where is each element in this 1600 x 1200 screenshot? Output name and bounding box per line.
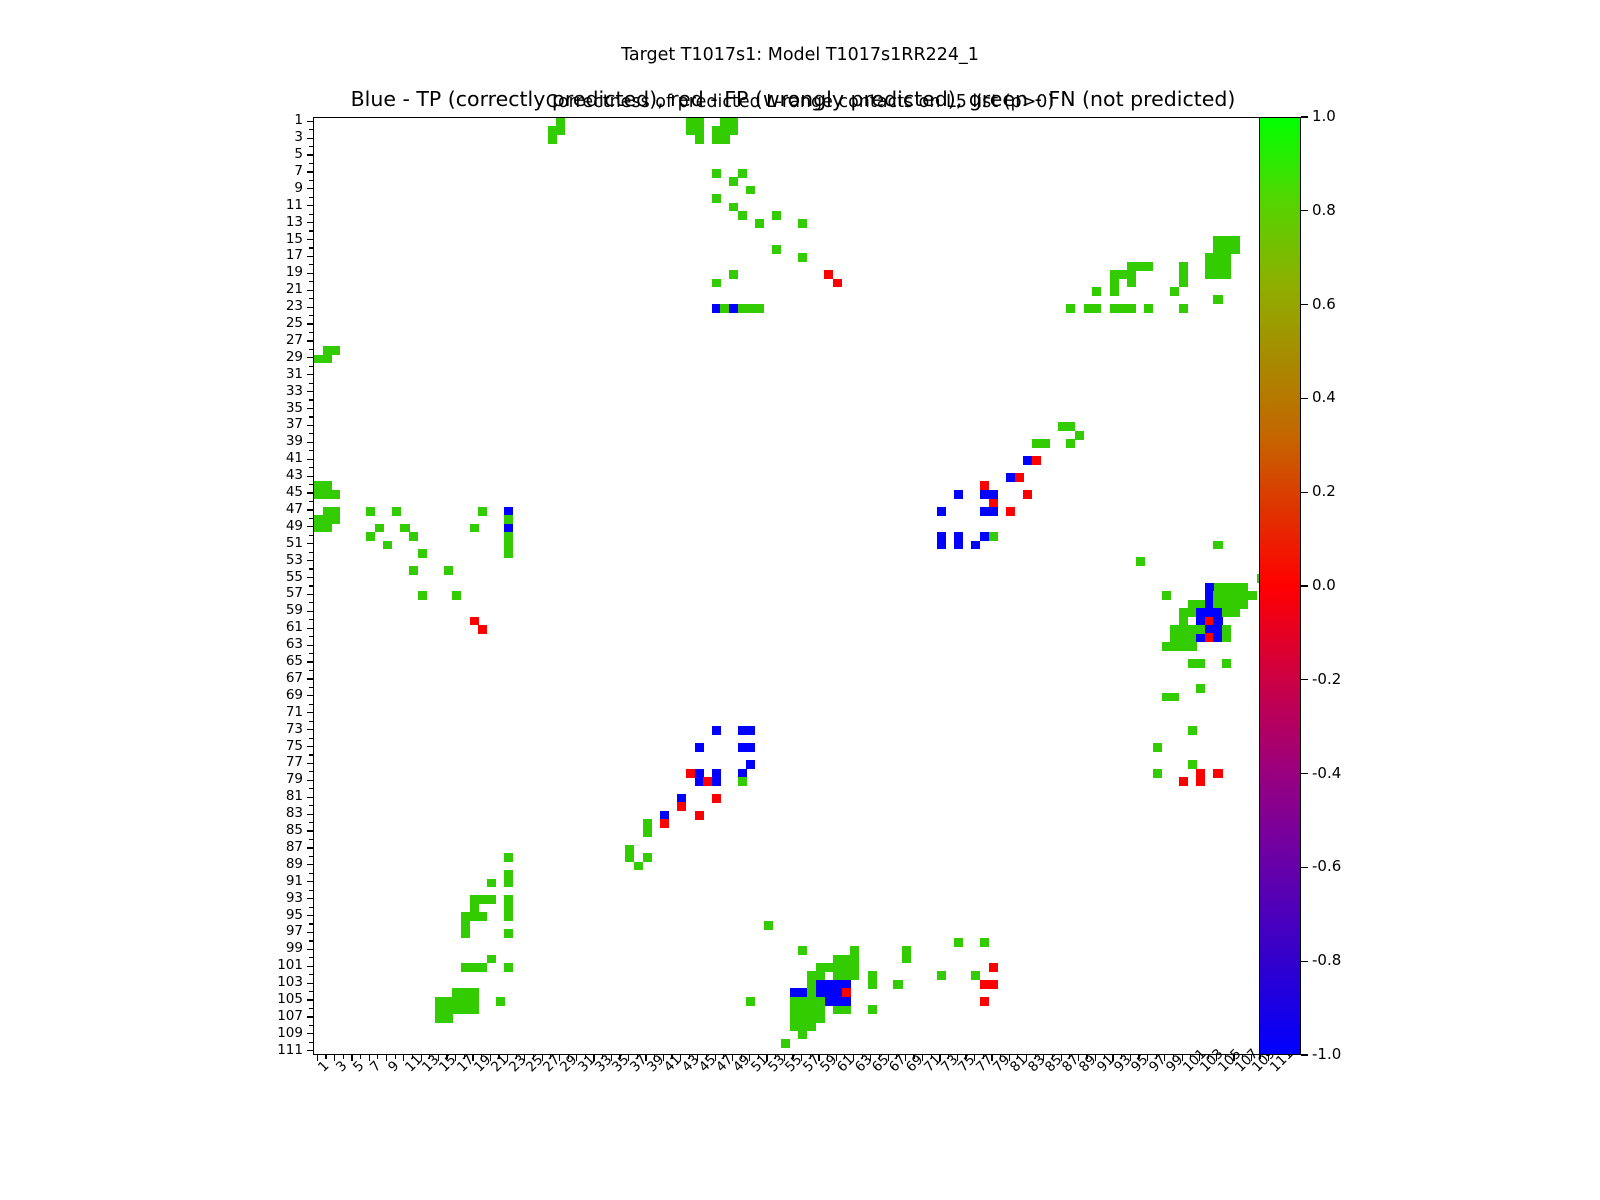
contact-cell-mirror [504,515,513,524]
contact-cell-mirror [807,1022,816,1031]
y-tick-label-79: 79 [243,771,303,787]
y-tick-label-81: 81 [243,788,303,804]
contact-cell-mirror [392,507,401,516]
y-tick-mark [309,991,313,992]
contact-cell [1196,684,1205,693]
y-tick-label-75: 75 [243,738,303,754]
colorbar-tick-label--0.6: -0.6 [1312,857,1341,875]
y-tick-mark [307,746,313,747]
y-tick-mark [309,247,313,248]
y-tick-mark [307,425,313,426]
y-tick-mark [307,712,313,713]
y-tick-label-43: 43 [243,467,303,483]
y-tick-mark [307,239,313,240]
y-tick-label-39: 39 [243,433,303,449]
y-tick-mark [307,307,313,308]
y-tick-mark [307,1016,313,1017]
y-tick-label-73: 73 [243,721,303,737]
y-tick-mark [309,180,313,181]
y-tick-mark [307,1050,313,1051]
y-tick-mark [307,966,313,967]
contact-cell [1136,557,1145,566]
contact-cell-mirror [798,946,807,955]
contact-cell-mirror [764,921,773,930]
y-tick-label-1: 1 [243,112,303,128]
y-tick-mark [307,357,313,358]
contact-cell [1170,693,1179,702]
contact-cell-mirror [677,802,686,811]
contact-cell [478,912,487,921]
contact-cell-mirror [755,304,764,313]
contact-cell [746,743,755,752]
contact-cell [634,862,643,871]
contact-cell-mirror [556,126,565,135]
y-tick-mark [309,873,313,874]
contact-cell-mirror [816,1005,825,1014]
y-tick-mark [307,560,313,561]
y-tick-label-41: 41 [243,450,303,466]
contact-cell-mirror [478,507,487,516]
contact-cell-mirror [1196,659,1205,668]
contact-cell-mirror [989,980,998,989]
x-tick-mark [360,1055,361,1059]
y-tick-mark [307,154,313,155]
contact-cell [1153,743,1162,752]
contact-cell [504,912,513,921]
contact-cell-mirror [478,625,487,634]
colorbar-tick-label--0.2: -0.2 [1312,670,1341,688]
y-tick-mark [309,670,313,671]
y-tick-mark [307,340,313,341]
x-tick-mark [395,1055,396,1059]
contact-cell-mirror [798,1031,807,1040]
contact-cell [772,245,781,254]
contact-cell-mirror [409,532,418,541]
contact-cell [323,355,332,364]
y-tick-mark [307,628,313,629]
contact-cell-mirror [1231,608,1240,617]
y-tick-mark [309,298,313,299]
y-tick-label-31: 31 [243,366,303,382]
contact-cell-mirror [746,760,755,769]
y-tick-mark [307,780,313,781]
y-tick-mark [307,915,313,916]
contact-cell-mirror [989,490,998,499]
y-tick-mark [307,273,313,274]
colorbar-tick-mark [1301,1054,1308,1055]
y-tick-mark [307,729,313,730]
x-tick-label-3: 3 [333,1058,350,1075]
y-tick-label-67: 67 [243,670,303,686]
colorbar-tick-label-1.0: 1.0 [1312,107,1336,125]
y-tick-mark [309,890,313,891]
y-tick-label-63: 63 [243,636,303,652]
contact-cell [772,211,781,220]
contact-cell-mirror [842,997,851,1006]
y-tick-mark [307,678,313,679]
y-tick-label-103: 103 [243,974,303,990]
y-tick-label-77: 77 [243,754,303,770]
contact-cell-mirror [1110,304,1119,313]
contact-map-cells [314,118,1272,1054]
y-tick-mark [309,450,313,451]
y-tick-label-69: 69 [243,687,303,703]
contact-cell-mirror [1222,270,1231,279]
y-tick-mark [307,864,313,865]
contact-cell [375,524,384,533]
y-tick-mark [309,399,313,400]
contact-cell [842,1005,851,1014]
contact-cell [738,169,747,178]
y-tick-mark [309,552,313,553]
y-tick-label-47: 47 [243,501,303,517]
contact-cell-mirror [487,955,496,964]
x-tick-label-7: 7 [367,1058,384,1075]
contact-cell [504,929,513,938]
y-tick-mark [309,230,313,231]
contact-cell-mirror [461,988,470,997]
y-tick-mark [309,433,313,434]
colorbar-tick-mark [1301,492,1308,493]
y-tick-mark [307,983,313,984]
contact-cell [695,135,704,144]
y-tick-mark [309,619,313,620]
contact-cell [712,279,721,288]
contact-cell-mirror [798,253,807,262]
x-tick-label-1: 1 [315,1058,332,1075]
contact-cell-mirror [798,219,807,228]
y-tick-mark [309,332,313,333]
y-tick-label-11: 11 [243,197,303,213]
contact-cell [937,507,946,516]
contact-cell-mirror [755,219,764,228]
colorbar-tick-label--1.0: -1.0 [1312,1045,1341,1063]
axes-title-legend: Blue - TP (correctly predicted), red - F… [313,87,1273,111]
suptitle-line-1: Target T1017s1: Model T1017s1RR224_1 [621,45,979,65]
y-tick-mark [309,805,313,806]
y-tick-label-51: 51 [243,535,303,551]
contact-cell-mirror [1222,633,1231,642]
y-tick-label-65: 65 [243,653,303,669]
contact-cell [1170,287,1179,296]
contact-cell-mirror [1144,262,1153,271]
contact-cell-mirror [366,532,375,541]
contact-cell [452,591,461,600]
contact-cell-mirror [980,532,989,541]
y-tick-mark [309,366,313,367]
contact-cell [461,929,470,938]
contact-cell-mirror [1023,490,1032,499]
contact-cell-mirror [1110,287,1119,296]
contact-cell [1006,507,1015,516]
y-tick-label-55: 55 [243,569,303,585]
contact-cell-mirror [695,126,704,135]
y-tick-label-7: 7 [243,163,303,179]
y-tick-label-23: 23 [243,298,303,314]
y-tick-mark [307,881,313,882]
contact-cell-mirror [1032,456,1041,465]
contact-cell [1040,439,1049,448]
y-tick-label-99: 99 [243,940,303,956]
contact-cell-mirror [790,1005,799,1014]
contact-cell-mirror [1188,726,1197,735]
contact-cell-mirror [902,955,911,964]
contact-cell-mirror [409,566,418,575]
y-tick-label-37: 37 [243,416,303,432]
y-tick-mark [307,594,313,595]
y-tick-mark [309,568,313,569]
contact-cell [1179,777,1188,786]
y-tick-mark [307,526,313,527]
x-tick-mark [386,1055,387,1061]
contact-cell [695,743,704,752]
y-tick-label-9: 9 [243,180,303,196]
y-tick-label-15: 15 [243,231,303,247]
contact-cell [937,971,946,980]
contact-cell [496,997,505,1006]
contact-cell-mirror [1213,295,1222,304]
contact-cell [868,980,877,989]
y-tick-mark [307,442,313,443]
contact-cell-mirror [504,963,513,972]
y-tick-label-95: 95 [243,907,303,923]
contact-cell [1162,591,1171,600]
y-tick-mark [307,391,313,392]
contact-cell-mirror [470,904,479,913]
contact-cell-mirror [487,879,496,888]
contact-cell [323,524,332,533]
contact-cell-mirror [850,971,859,980]
contact-cell-mirror [1092,304,1101,313]
y-tick-label-101: 101 [243,957,303,973]
y-tick-label-83: 83 [243,805,303,821]
x-tick-label-9: 9 [385,1058,402,1075]
contact-cell-mirror [738,777,747,786]
colorbar-tick-mark [1301,398,1308,399]
contact-cell-mirror [1075,431,1084,440]
contact-cell-mirror [478,895,487,904]
y-tick-mark [307,763,313,764]
contact-cell [1248,591,1257,600]
y-tick-label-19: 19 [243,264,303,280]
y-tick-mark [309,704,313,705]
contact-cell-mirror [746,726,755,735]
y-tick-mark [309,653,313,654]
contact-cell [868,1005,877,1014]
contact-cell-mirror [729,177,738,186]
y-tick-mark [307,695,313,696]
y-tick-label-59: 59 [243,602,303,618]
colorbar-tick-mark [1301,961,1308,962]
y-tick-mark [309,907,313,908]
y-tick-label-105: 105 [243,991,303,1007]
y-tick-mark [309,602,313,603]
contact-cell-mirror [504,904,513,913]
contact-cell-mirror [712,726,721,735]
colorbar [1259,117,1301,1055]
contact-cell-mirror [1222,659,1231,668]
y-tick-mark [307,661,313,662]
y-tick-mark [307,847,313,848]
y-tick-mark [309,518,313,519]
y-tick-label-5: 5 [243,146,303,162]
y-tick-mark [309,856,313,857]
contact-cell-mirror [712,794,721,803]
contact-cell [1066,439,1075,448]
y-tick-mark [307,290,313,291]
y-tick-label-13: 13 [243,214,303,230]
contact-cell-mirror [1127,304,1136,313]
contact-cell [548,135,557,144]
y-tick-mark [309,721,313,722]
contact-cell [816,1014,825,1023]
contact-cell-mirror [729,203,738,212]
contact-cell-mirror [824,270,833,279]
contact-cell-mirror [738,304,747,313]
y-tick-mark [309,349,313,350]
y-tick-label-45: 45 [243,484,303,500]
x-tick-mark [343,1055,344,1059]
y-tick-mark [309,535,313,536]
contact-map-plot[interactable] [313,117,1273,1055]
contact-cell-mirror [1196,769,1205,778]
colorbar-tick-label-0.6: 0.6 [1312,295,1336,313]
y-tick-mark [309,957,313,958]
y-tick-mark [309,467,313,468]
y-tick-mark [309,281,313,282]
contact-cell [504,549,513,558]
y-tick-label-33: 33 [243,383,303,399]
y-tick-label-25: 25 [243,315,303,331]
colorbar-tick-label--0.8: -0.8 [1312,951,1341,969]
contact-cell [1066,304,1075,313]
y-tick-label-91: 91 [243,873,303,889]
colorbar-tick-label-0.0: 0.0 [1312,576,1336,594]
y-tick-mark [307,577,313,578]
x-tick-mark [325,1055,326,1059]
y-tick-label-3: 3 [243,129,303,145]
contact-cell-mirror [1196,625,1205,634]
y-tick-mark [307,222,313,223]
contact-cell-mirror [746,186,755,195]
contact-cell-mirror [504,541,513,550]
y-tick-mark [309,197,313,198]
y-tick-mark [307,814,313,815]
contact-cell-mirror [1127,279,1136,288]
colorbar-tick-mark [1301,679,1308,680]
contact-cell [746,997,755,1006]
y-tick-mark [307,509,313,510]
contact-cell [1015,473,1024,482]
y-tick-mark [309,1008,313,1009]
y-tick-mark [307,898,313,899]
y-tick-label-111: 111 [243,1042,303,1058]
colorbar-tick-label-0.2: 0.2 [1312,482,1336,500]
y-tick-mark [309,585,313,586]
y-tick-label-53: 53 [243,552,303,568]
contact-cell [418,591,427,600]
y-tick-mark [309,687,313,688]
y-tick-mark [309,214,313,215]
contact-cell [1239,600,1248,609]
y-tick-mark [309,146,313,147]
contact-cell [418,549,427,558]
y-tick-mark [307,205,313,206]
y-tick-mark [309,788,313,789]
contact-cell [1179,279,1188,288]
y-tick-mark [307,476,313,477]
y-tick-mark [307,645,313,646]
contact-cell [980,997,989,1006]
y-tick-label-71: 71 [243,704,303,720]
contact-cell-mirror [331,346,340,355]
y-tick-mark [309,636,313,637]
y-tick-mark [309,501,313,502]
y-tick-mark [307,459,313,460]
y-tick-label-107: 107 [243,1008,303,1024]
contact-cell-mirror [712,777,721,786]
contact-cell-mirror [729,270,738,279]
contact-cell [383,541,392,550]
figure-canvas: Target T1017s1: Model T1017s1RR224_1 Cor… [0,0,1600,1200]
y-tick-mark [309,754,313,755]
y-tick-mark [309,771,313,772]
y-tick-label-87: 87 [243,839,303,855]
colorbar-tick-mark [1301,585,1308,586]
y-tick-mark [307,949,313,950]
colorbar-tick-label--0.4: -0.4 [1312,764,1341,782]
contact-cell-mirror [643,853,652,862]
y-tick-label-17: 17 [243,247,303,263]
y-tick-label-49: 49 [243,518,303,534]
contact-cell-mirror [504,879,513,888]
contact-cell-mirror [444,566,453,575]
x-tick-mark [377,1055,378,1059]
y-tick-mark [309,264,313,265]
contact-cell [1092,287,1101,296]
contact-cell-mirror [954,541,963,550]
y-tick-mark [307,188,313,189]
contact-cell [1196,777,1205,786]
contact-cell [712,194,721,203]
contact-cell-mirror [643,828,652,837]
y-tick-mark [309,1042,313,1043]
contact-cell-mirror [954,490,963,499]
y-tick-mark [307,830,313,831]
contact-cell-mirror [954,938,963,947]
contact-cell-mirror [478,963,487,972]
x-tick-label-5: 5 [350,1058,367,1075]
colorbar-tick-label-0.4: 0.4 [1312,388,1336,406]
y-tick-label-89: 89 [243,856,303,872]
contact-cell [444,1014,453,1023]
y-tick-label-109: 109 [243,1025,303,1041]
colorbar-tick-label-0.8: 0.8 [1312,201,1336,219]
contact-cell [487,895,496,904]
colorbar-tick-mark [1301,867,1308,868]
contact-cell-mirror [980,938,989,947]
colorbar-tick-mark [1301,116,1308,117]
y-tick-mark [309,822,313,823]
contact-cell [660,819,669,828]
contact-cell [470,524,479,533]
y-tick-mark [309,940,313,941]
y-tick-mark [309,974,313,975]
contact-cell [937,541,946,550]
y-tick-mark [307,611,313,612]
y-tick-mark [307,374,313,375]
y-tick-mark [307,797,313,798]
